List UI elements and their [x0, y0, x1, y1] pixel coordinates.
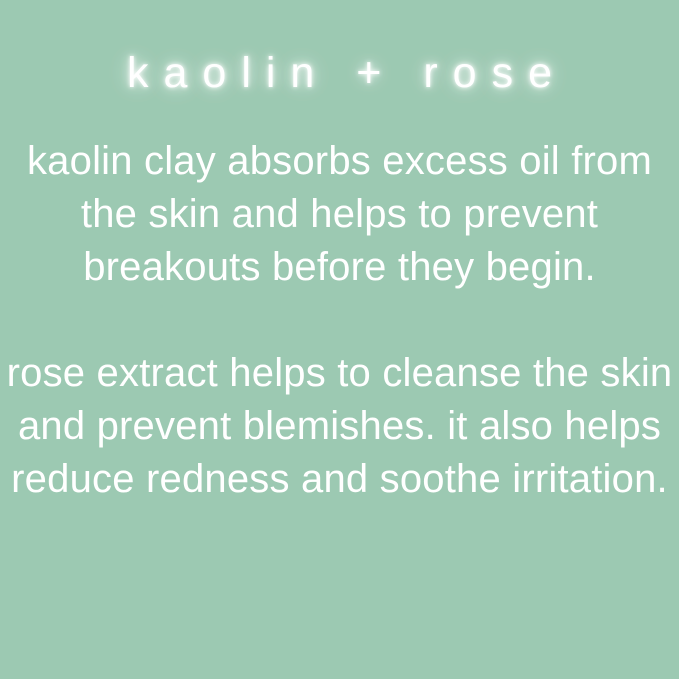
description-block: kaolin clay absorbs excess oil from the … — [6, 135, 673, 506]
page-title: kaolin + rose — [0, 47, 679, 99]
description-paragraph-kaolin: kaolin clay absorbs excess oil from the … — [6, 135, 673, 294]
description-paragraph-rose: rose extract helps to cleanse the skin a… — [6, 347, 673, 506]
product-ingredient-card: kaolin + rose kaolin clay absorbs excess… — [0, 0, 679, 679]
